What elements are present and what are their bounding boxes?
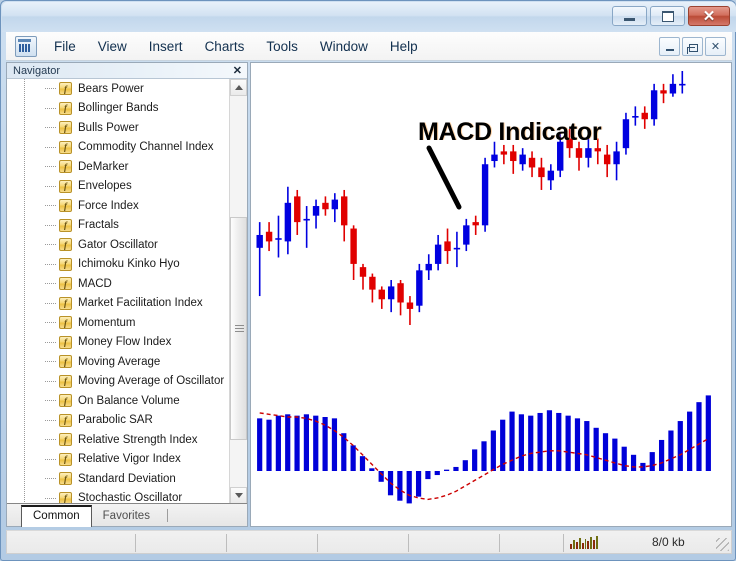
chart-window-icon	[15, 36, 37, 57]
tree-elbow	[45, 459, 57, 460]
candlestick	[670, 74, 676, 97]
macd-histogram-bar	[332, 418, 337, 471]
tree-elbow	[45, 166, 57, 167]
title-bar: ✕	[2, 2, 736, 32]
candlestick	[332, 193, 338, 222]
macd-histogram-bar	[416, 471, 421, 497]
tree-elbow	[45, 147, 57, 148]
list-item[interactable]: fCommodity Channel Index	[7, 138, 229, 158]
candlestick	[604, 145, 610, 177]
candlestick	[538, 158, 544, 190]
candlestick	[285, 187, 291, 255]
macd-histogram-bar	[453, 467, 458, 471]
chart-panel[interactable]: MACD Indicator	[250, 62, 732, 527]
status-separator	[408, 534, 409, 552]
macd-histogram-bar	[435, 471, 440, 475]
mdi-window-controls: ✕	[659, 37, 726, 56]
mdi-close-button[interactable]: ✕	[705, 37, 726, 56]
list-item-label: DeMarker	[78, 161, 128, 173]
candlestick	[519, 148, 525, 171]
list-item[interactable]: fForce Index	[7, 196, 229, 216]
macd-histogram-bar	[313, 416, 318, 471]
candlestick	[529, 151, 535, 177]
tree-elbow	[45, 361, 57, 362]
function-icon: f	[59, 394, 72, 407]
function-icon: f	[59, 160, 72, 173]
macd-histogram-bar	[257, 418, 262, 471]
macd-histogram-bar	[407, 471, 412, 503]
status-separator	[226, 534, 227, 552]
candlestick	[482, 158, 488, 232]
list-item[interactable]: fDeMarker	[7, 157, 229, 177]
function-icon: f	[59, 121, 72, 134]
list-item[interactable]: fOn Balance Volume	[7, 391, 229, 411]
macd-histogram-bar	[444, 470, 449, 471]
list-item-label: Parabolic SAR	[78, 414, 153, 426]
candlestick	[350, 225, 356, 280]
candlestick	[303, 206, 309, 248]
list-item-label: Bears Power	[78, 83, 144, 95]
tree-elbow	[45, 108, 57, 109]
chevron-down-icon	[235, 493, 243, 498]
macd-annotation-label: MACD Indicator	[418, 118, 601, 147]
macd-histogram-bar	[528, 416, 533, 471]
scrollbar-thumb[interactable]	[230, 217, 247, 440]
window-controls: ✕	[612, 6, 730, 26]
candlestick	[360, 264, 366, 290]
list-item-label: Bollinger Bands	[78, 102, 159, 114]
macd-histogram-bar	[491, 431, 496, 472]
candlestick	[613, 142, 619, 181]
navigator-close-icon[interactable]: ✕	[233, 64, 242, 77]
tree-elbow	[45, 400, 57, 401]
list-item[interactable]: fParabolic SAR	[7, 411, 229, 431]
chevron-up-icon	[235, 85, 243, 90]
macd-histogram-bar	[659, 440, 664, 471]
list-item-label: Standard Deviation	[78, 473, 176, 485]
macd-histogram-bar	[584, 421, 589, 471]
macd-histogram-bar	[266, 420, 271, 471]
list-item-label: Envelopes	[78, 180, 132, 192]
list-item[interactable]: fBears Power	[7, 79, 229, 99]
macd-histogram-bar	[594, 428, 599, 471]
candlestick	[256, 222, 262, 296]
candlestick	[313, 200, 319, 229]
minimize-icon	[624, 18, 635, 21]
macd-histogram-bar	[472, 449, 477, 471]
macd-histogram-bar	[603, 433, 608, 471]
mdi-minimize-button[interactable]	[659, 37, 680, 56]
tree-elbow	[45, 420, 57, 421]
function-icon: f	[59, 297, 72, 310]
tree-elbow	[45, 205, 57, 206]
list-item-label: Ichimoku Kinko Hyo	[78, 258, 180, 270]
tree-elbow	[45, 478, 57, 479]
function-icon: f	[59, 316, 72, 329]
list-item[interactable]: fMoney Flow Index	[7, 333, 229, 353]
list-item-label: Commodity Channel Index	[78, 141, 214, 153]
list-item[interactable]: fIchimoku Kinko Hyo	[7, 255, 229, 275]
tab-caret	[167, 509, 168, 522]
macd-histogram-bar	[668, 431, 673, 472]
candlestick	[275, 216, 281, 258]
list-item-label: Moving Average	[78, 356, 160, 368]
function-icon: f	[59, 219, 72, 232]
status-separator	[317, 534, 318, 552]
menu-item-help[interactable]: Help	[379, 35, 429, 58]
list-item[interactable]: fGator Oscillator	[7, 235, 229, 255]
list-item-label: Money Flow Index	[78, 336, 171, 348]
macd-histogram-bar	[575, 418, 580, 471]
tree-elbow	[45, 439, 57, 440]
list-item[interactable]: fRelative Vigor Index	[7, 450, 229, 470]
close-button[interactable]: ✕	[688, 6, 730, 26]
tree-elbow	[45, 342, 57, 343]
macd-histogram-bar	[481, 441, 486, 471]
candlestick	[407, 296, 413, 325]
navigator-item-list: fBears PowerfBollinger BandsfBulls Power…	[7, 79, 229, 504]
list-item-label: Moving Average of Oscillator	[78, 375, 224, 387]
list-item-label: Bulls Power	[78, 122, 139, 134]
macd-histogram-bar	[351, 445, 356, 471]
macd-histogram-bar	[706, 395, 711, 471]
function-icon: f	[59, 336, 72, 349]
macd-histogram-bar	[379, 471, 384, 482]
navigator-header: Navigator ✕	[7, 63, 247, 79]
candlestick	[510, 145, 516, 174]
macd-histogram-bar	[556, 413, 561, 471]
macd-histogram-bar	[678, 421, 683, 471]
minimize-button[interactable]	[612, 6, 647, 26]
scroll-up-button[interactable]	[230, 79, 247, 96]
function-icon: f	[59, 355, 72, 368]
macd-histogram-bar	[631, 455, 636, 471]
tree-elbow	[45, 381, 57, 382]
status-separator	[135, 534, 136, 552]
candlestick	[379, 286, 385, 309]
menu-item-file[interactable]: File	[43, 35, 87, 58]
maximize-button[interactable]	[650, 6, 685, 26]
candlestick	[463, 219, 469, 251]
macd-histogram-bar	[537, 413, 542, 471]
candlestick	[444, 229, 450, 264]
tree-elbow	[45, 88, 57, 89]
navigator-panel: Navigator ✕ fBears PowerfBollinger Bands…	[6, 62, 248, 527]
function-icon: f	[59, 82, 72, 95]
tree-elbow	[45, 127, 57, 128]
candlestick	[416, 264, 422, 312]
tree-elbow	[45, 264, 57, 265]
list-item-label: Fractals	[78, 219, 119, 231]
candlestick	[266, 222, 272, 251]
list-item[interactable]: fMoving Average	[7, 352, 229, 372]
signal-bars-icon	[570, 536, 598, 549]
candlestick	[388, 280, 394, 312]
macd-histogram-bar	[323, 417, 328, 471]
macd-histogram-bar	[304, 414, 309, 471]
menu-item-insert[interactable]: Insert	[138, 35, 194, 58]
macd-histogram-bar	[463, 460, 468, 471]
function-icon: f	[59, 238, 72, 251]
tree-elbow	[45, 303, 57, 304]
macd-histogram-bar	[397, 471, 402, 501]
candlestick	[623, 113, 629, 155]
status-text: 8/0 kb	[652, 535, 685, 549]
candlestick	[472, 216, 478, 235]
macd-histogram-bar	[566, 416, 571, 471]
macd-histogram-bar	[612, 439, 617, 471]
resize-grip-icon[interactable]	[716, 538, 729, 551]
candlestick	[642, 106, 648, 129]
function-icon: f	[59, 277, 72, 290]
candlestick	[660, 84, 666, 103]
candlestick	[435, 235, 441, 270]
candlestick	[369, 274, 375, 303]
function-icon: f	[59, 199, 72, 212]
application-window: ✕ File View Insert Charts Tools Window H…	[0, 0, 736, 561]
tree-elbow	[45, 498, 57, 499]
macd-histogram-bar	[650, 452, 655, 471]
menu-item-tools[interactable]: Tools	[255, 35, 309, 58]
macd-histogram-bar	[294, 416, 299, 471]
candlestick	[632, 106, 638, 125]
function-icon: f	[59, 180, 72, 193]
list-item[interactable]: fEnvelopes	[7, 177, 229, 197]
scroll-down-button[interactable]	[230, 487, 247, 504]
list-item[interactable]: fBulls Power	[7, 118, 229, 138]
tab-common[interactable]: Common	[21, 505, 92, 527]
tree-elbow	[45, 322, 57, 323]
function-icon: f	[59, 258, 72, 271]
candlestick	[341, 190, 347, 241]
function-icon: f	[59, 472, 72, 485]
candlestick	[454, 232, 460, 267]
mdi-minimize-icon	[666, 49, 674, 51]
list-item-label: MACD	[78, 278, 112, 290]
tree-elbow	[45, 186, 57, 187]
candlestick	[426, 254, 432, 280]
candlestick	[322, 196, 328, 215]
tree-elbow	[45, 225, 57, 226]
list-item[interactable]: fStochastic Oscillator	[7, 489, 229, 505]
menu-item-view[interactable]: View	[87, 35, 138, 58]
candlestick	[397, 280, 403, 315]
menu-bar: File View Insert Charts Tools Window Hel…	[6, 32, 732, 61]
tab-favorites[interactable]: Favorites	[92, 507, 161, 526]
macd-histogram-bar	[276, 416, 281, 471]
list-item[interactable]: fRelative Strength Index	[7, 430, 229, 450]
menu-item-window[interactable]: Window	[309, 35, 379, 58]
maximize-icon	[662, 11, 674, 22]
function-icon: f	[59, 375, 72, 388]
function-icon: f	[59, 141, 72, 154]
mdi-restore-button[interactable]	[682, 37, 703, 56]
navigator-title: Navigator	[7, 65, 60, 77]
menu-item-charts[interactable]: Charts	[194, 35, 256, 58]
function-icon: f	[59, 102, 72, 115]
close-icon: ✕	[703, 9, 716, 24]
list-item-label: Gator Oscillator	[78, 239, 158, 251]
macd-histogram-bar	[425, 471, 430, 479]
macd-histogram-bar	[360, 456, 365, 471]
function-icon: f	[59, 453, 72, 466]
list-item-label: Momentum	[78, 317, 136, 329]
list-item-label: Relative Vigor Index	[78, 453, 181, 465]
list-item[interactable]: fMoving Average of Oscillator	[7, 372, 229, 392]
list-item[interactable]: fBollinger Bands	[7, 99, 229, 119]
list-item[interactable]: fMACD	[7, 274, 229, 294]
macd-histogram-bar	[519, 414, 524, 471]
list-item[interactable]: fMarket Facilitation Index	[7, 294, 229, 314]
candlestick	[294, 190, 300, 235]
status-separator	[499, 534, 500, 552]
list-item-label: Market Facilitation Index	[78, 297, 203, 309]
navigator-tabs: Common Favorites	[7, 503, 247, 526]
tree-elbow	[45, 244, 57, 245]
macd-histogram-bar	[687, 412, 692, 471]
macd-histogram-bar	[547, 410, 552, 471]
mdi-restore-icon	[689, 44, 698, 52]
function-icon: f	[59, 433, 72, 446]
navigator-tree[interactable]: fBears PowerfBollinger BandsfBulls Power…	[7, 79, 247, 504]
navigator-scrollbar[interactable]	[229, 79, 247, 504]
tree-elbow	[45, 283, 57, 284]
list-item-label: Force Index	[78, 200, 139, 212]
list-item-label: On Balance Volume	[78, 395, 180, 407]
list-item-label: Relative Strength Index	[78, 434, 198, 446]
list-item[interactable]: fMomentum	[7, 313, 229, 333]
candlestick	[679, 71, 685, 94]
status-separator	[563, 534, 564, 552]
status-bar: 8/0 kb	[6, 530, 732, 554]
macd-histogram-bar	[369, 468, 374, 471]
macd-histogram-bar	[285, 414, 290, 471]
candlestick	[548, 164, 554, 190]
list-item[interactable]: fStandard Deviation	[7, 469, 229, 489]
candlestick	[651, 84, 657, 126]
function-icon: f	[59, 414, 72, 427]
macd-histogram-bar	[696, 402, 701, 471]
list-item[interactable]: fFractals	[7, 216, 229, 236]
candlestick	[501, 145, 507, 164]
macd-histogram-bar	[622, 447, 627, 471]
scrollbar-grip-icon	[235, 325, 244, 333]
macd-histogram-bar	[509, 412, 514, 471]
